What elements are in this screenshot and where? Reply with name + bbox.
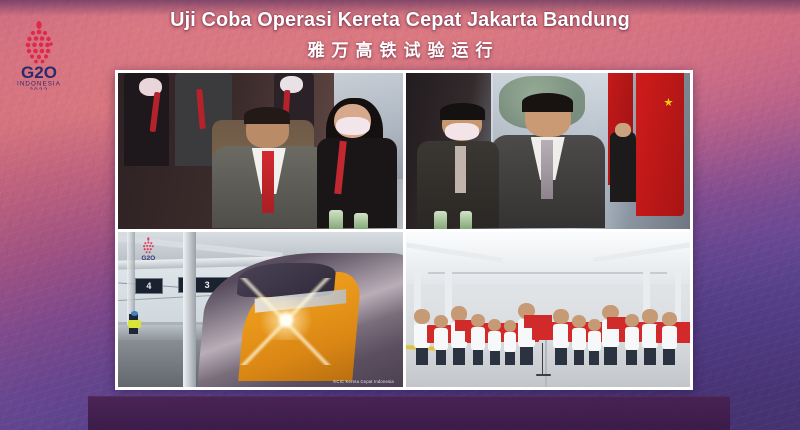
broadcast-screen: G2O INDONESIA 2022 Uji Coba Operasi Kere… [0, 0, 800, 430]
lower-third-band [88, 396, 730, 430]
title-chinese: 雅万高铁试验运行 [0, 36, 800, 61]
video-grid: 4 3 [115, 70, 693, 390]
g20-logo-year: 2022 [30, 88, 49, 90]
video-panel-indonesian-delegation[interactable] [118, 73, 403, 229]
platform-sign-4: 4 [135, 278, 163, 294]
feed-credit: KCIC Kereta Cepat Indonesia [333, 379, 394, 384]
video-panel-chinese-delegation[interactable] [406, 73, 691, 229]
headline-block: Uji Coba Operasi Kereta Cepat Jakarta Ba… [0, 8, 800, 61]
g20-watermark-text: G2O [141, 255, 155, 262]
g20-watermark-icon: G2O [127, 236, 170, 262]
video-panel-station-crowd[interactable] [406, 232, 691, 388]
g20-logo-country: INDONESIA [17, 81, 61, 88]
g20-logo-text: G2O [21, 63, 57, 82]
video-panel-high-speed-train[interactable]: 4 3 [118, 232, 403, 388]
title-indonesian: Uji Coba Operasi Kereta Cepat Jakarta Ba… [12, 8, 788, 32]
